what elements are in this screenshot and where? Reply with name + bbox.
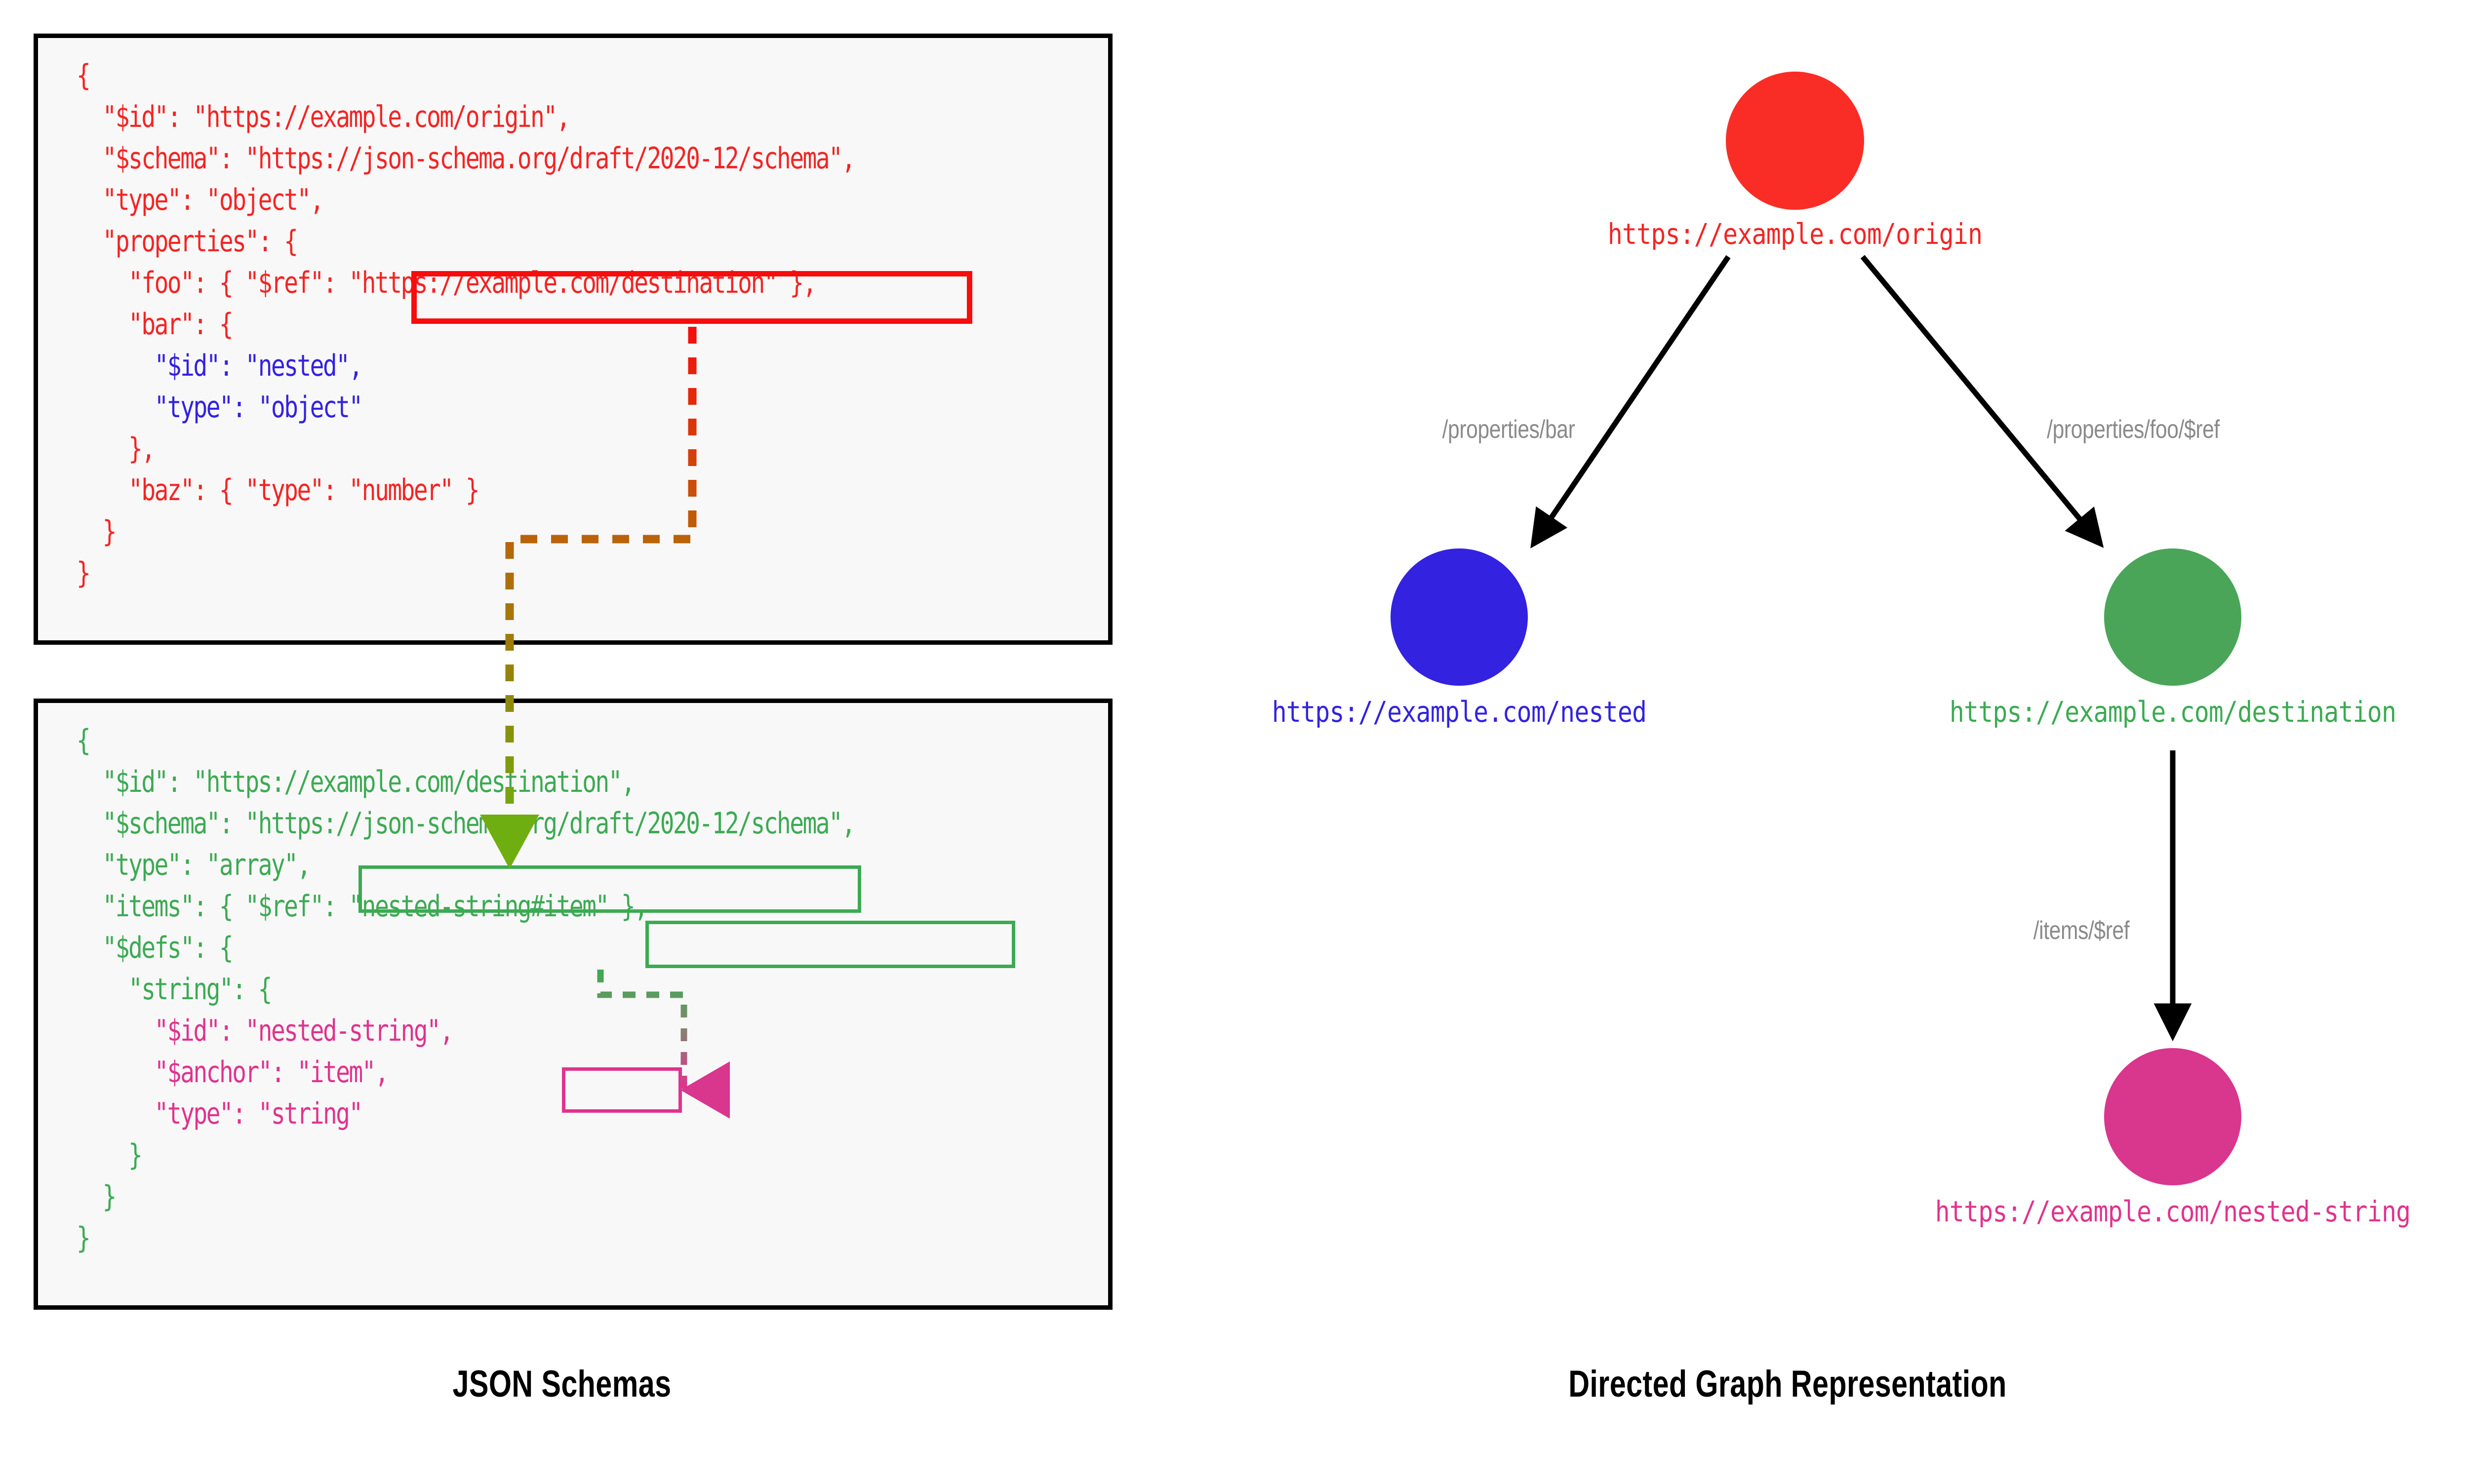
caption-directed-graph: Directed Graph Representation xyxy=(1568,1363,2007,1406)
graph-node-label-origin: https://example.com/origin xyxy=(1608,217,1982,251)
graph-edge-label-origin-to-nested: /properties/bar xyxy=(1442,415,1575,444)
graph-node-label-nested-string: https://example.com/nested-string xyxy=(1935,1195,2411,1228)
graph-node-label-destination: https://example.com/destination xyxy=(1950,695,2396,729)
graph-edge-label-origin-to-destination: /properties/foo/$ref xyxy=(2047,415,2220,444)
graph-text-layer: https://example.com/originhttps://exampl… xyxy=(0,0,2469,1484)
graph-edge-label-destination-to-nested-string: /items/$ref xyxy=(2033,916,2130,945)
caption-json-schemas: JSON Schemas xyxy=(453,1363,672,1406)
graph-node-label-nested: https://example.com/nested xyxy=(1272,695,1646,729)
